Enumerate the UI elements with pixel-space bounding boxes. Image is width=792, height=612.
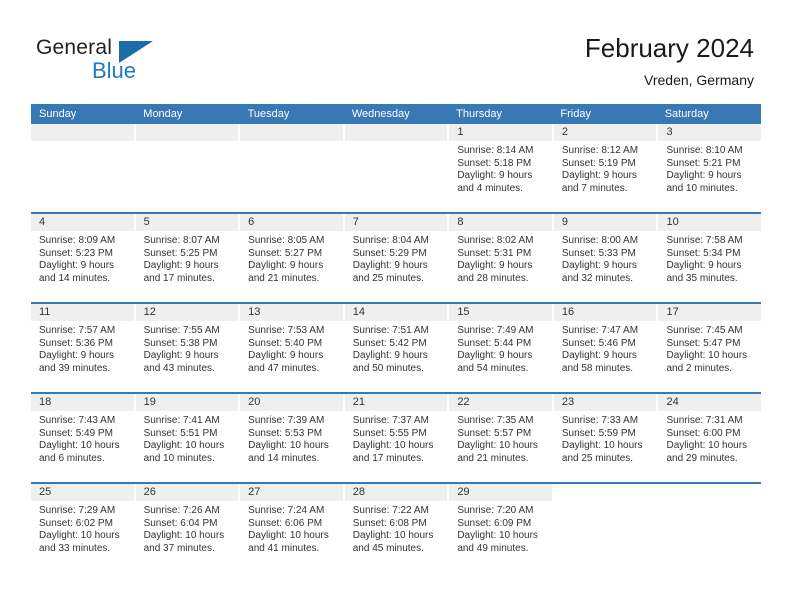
day-sun-info: Sunrise: 7:57 AMSunset: 5:36 PMDaylight:… xyxy=(31,321,134,381)
calendar-day-cell[interactable]: 12Sunrise: 7:55 AMSunset: 5:38 PMDayligh… xyxy=(136,304,241,392)
day-number: 11 xyxy=(31,304,134,321)
calendar-day-cell[interactable]: 24Sunrise: 7:31 AMSunset: 6:00 PMDayligh… xyxy=(658,394,761,482)
calendar-empty-cell xyxy=(554,484,659,572)
daylight-text-cont: and 45 minutes. xyxy=(353,543,444,556)
sunset-text: Sunset: 6:00 PM xyxy=(666,428,757,441)
daylight-text: Daylight: 9 hours xyxy=(144,260,235,273)
calendar-day-cell[interactable]: 15Sunrise: 7:49 AMSunset: 5:44 PMDayligh… xyxy=(449,304,554,392)
calendar-day-cell[interactable]: 13Sunrise: 7:53 AMSunset: 5:40 PMDayligh… xyxy=(240,304,345,392)
calendar-week-row: 25Sunrise: 7:29 AMSunset: 6:02 PMDayligh… xyxy=(31,482,761,572)
location-subtitle: Vreden, Germany xyxy=(585,70,754,90)
sunrise-text: Sunrise: 7:47 AM xyxy=(562,325,653,338)
calendar-day-cell[interactable]: 14Sunrise: 7:51 AMSunset: 5:42 PMDayligh… xyxy=(345,304,450,392)
calendar-day-cell[interactable]: 9Sunrise: 8:00 AMSunset: 5:33 PMDaylight… xyxy=(554,214,659,302)
day-number: 6 xyxy=(240,214,343,231)
sunset-text: Sunset: 5:57 PM xyxy=(457,428,548,441)
day-number xyxy=(240,124,343,141)
sunset-text: Sunset: 5:53 PM xyxy=(248,428,339,441)
daylight-text: Daylight: 10 hours xyxy=(457,440,548,453)
daylight-text-cont: and 28 minutes. xyxy=(457,273,548,286)
day-sun-info: Sunrise: 7:39 AMSunset: 5:53 PMDaylight:… xyxy=(240,411,343,471)
calendar-day-cell[interactable]: 27Sunrise: 7:24 AMSunset: 6:06 PMDayligh… xyxy=(240,484,345,572)
calendar-day-cell[interactable]: 3Sunrise: 8:10 AMSunset: 5:21 PMDaylight… xyxy=(658,124,761,212)
daylight-text-cont: and 4 minutes. xyxy=(457,183,548,196)
day-sun-info: Sunrise: 7:49 AMSunset: 5:44 PMDaylight:… xyxy=(449,321,552,381)
day-sun-info: Sunrise: 7:41 AMSunset: 5:51 PMDaylight:… xyxy=(136,411,239,471)
sunset-text: Sunset: 5:42 PM xyxy=(353,338,444,351)
sunrise-text: Sunrise: 7:57 AM xyxy=(39,325,130,338)
day-sun-info: Sunrise: 7:58 AMSunset: 5:34 PMDaylight:… xyxy=(658,231,761,291)
sunset-text: Sunset: 5:47 PM xyxy=(666,338,757,351)
daylight-text: Daylight: 10 hours xyxy=(666,350,757,363)
sunset-text: Sunset: 5:27 PM xyxy=(248,248,339,261)
sunrise-text: Sunrise: 7:29 AM xyxy=(39,505,130,518)
daylight-text-cont: and 37 minutes. xyxy=(144,543,235,556)
day-sun-info: Sunrise: 7:26 AMSunset: 6:04 PMDaylight:… xyxy=(136,501,239,561)
day-number: 18 xyxy=(31,394,134,411)
day-sun-info xyxy=(31,141,134,151)
daylight-text-cont: and 25 minutes. xyxy=(562,453,653,466)
day-number: 20 xyxy=(240,394,343,411)
daylight-text: Daylight: 9 hours xyxy=(457,350,548,363)
calendar-day-cell[interactable]: 25Sunrise: 7:29 AMSunset: 6:02 PMDayligh… xyxy=(31,484,136,572)
day-number xyxy=(345,124,448,141)
day-number: 28 xyxy=(345,484,448,501)
calendar-grid: SundayMondayTuesdayWednesdayThursdayFrid… xyxy=(31,104,761,572)
sunset-text: Sunset: 5:49 PM xyxy=(39,428,130,441)
calendar-day-cell[interactable]: 6Sunrise: 8:05 AMSunset: 5:27 PMDaylight… xyxy=(240,214,345,302)
daylight-text-cont: and 14 minutes. xyxy=(39,273,130,286)
daylight-text-cont: and 10 minutes. xyxy=(144,453,235,466)
calendar-day-cell[interactable]: 23Sunrise: 7:33 AMSunset: 5:59 PMDayligh… xyxy=(554,394,659,482)
calendar-day-cell[interactable]: 8Sunrise: 8:02 AMSunset: 5:31 PMDaylight… xyxy=(449,214,554,302)
calendar-day-cell[interactable]: 21Sunrise: 7:37 AMSunset: 5:55 PMDayligh… xyxy=(345,394,450,482)
day-number: 21 xyxy=(345,394,448,411)
day-sun-info: Sunrise: 7:22 AMSunset: 6:08 PMDaylight:… xyxy=(345,501,448,561)
sunrise-text: Sunrise: 8:05 AM xyxy=(248,235,339,248)
calendar-empty-cell xyxy=(345,124,450,212)
sunset-text: Sunset: 5:25 PM xyxy=(144,248,235,261)
daylight-text: Daylight: 10 hours xyxy=(666,440,757,453)
logo-text-general: General xyxy=(36,36,112,60)
sunrise-text: Sunrise: 8:10 AM xyxy=(666,145,757,158)
daylight-text-cont: and 49 minutes. xyxy=(457,543,548,556)
daylight-text: Daylight: 10 hours xyxy=(353,530,444,543)
sunset-text: Sunset: 5:40 PM xyxy=(248,338,339,351)
day-sun-info: Sunrise: 7:35 AMSunset: 5:57 PMDaylight:… xyxy=(449,411,552,471)
sunset-text: Sunset: 5:23 PM xyxy=(39,248,130,261)
weekday-header-friday: Friday xyxy=(552,104,656,124)
daylight-text-cont: and 54 minutes. xyxy=(457,363,548,376)
day-number: 8 xyxy=(449,214,552,231)
sunrise-text: Sunrise: 7:24 AM xyxy=(248,505,339,518)
day-sun-info: Sunrise: 7:33 AMSunset: 5:59 PMDaylight:… xyxy=(554,411,657,471)
daylight-text-cont: and 35 minutes. xyxy=(666,273,757,286)
day-number: 5 xyxy=(136,214,239,231)
day-sun-info: Sunrise: 7:24 AMSunset: 6:06 PMDaylight:… xyxy=(240,501,343,561)
day-number: 19 xyxy=(136,394,239,411)
calendar-day-cell[interactable]: 16Sunrise: 7:47 AMSunset: 5:46 PMDayligh… xyxy=(554,304,659,392)
sunset-text: Sunset: 6:02 PM xyxy=(39,518,130,531)
day-sun-info: Sunrise: 8:12 AMSunset: 5:19 PMDaylight:… xyxy=(554,141,657,201)
sunrise-text: Sunrise: 7:22 AM xyxy=(353,505,444,518)
page-header: General Blue February 2024 Vreden, Germa… xyxy=(0,0,792,100)
weekday-header-thursday: Thursday xyxy=(448,104,552,124)
sunrise-text: Sunrise: 7:45 AM xyxy=(666,325,757,338)
day-sun-info: Sunrise: 8:00 AMSunset: 5:33 PMDaylight:… xyxy=(554,231,657,291)
day-sun-info: Sunrise: 7:47 AMSunset: 5:46 PMDaylight:… xyxy=(554,321,657,381)
daylight-text: Daylight: 10 hours xyxy=(39,440,130,453)
day-number: 1 xyxy=(449,124,552,141)
day-sun-info: Sunrise: 7:37 AMSunset: 5:55 PMDaylight:… xyxy=(345,411,448,471)
day-sun-info: Sunrise: 7:31 AMSunset: 6:00 PMDaylight:… xyxy=(658,411,761,471)
weekday-header-monday: Monday xyxy=(135,104,239,124)
day-sun-info: Sunrise: 8:09 AMSunset: 5:23 PMDaylight:… xyxy=(31,231,134,291)
sunset-text: Sunset: 5:21 PM xyxy=(666,158,757,171)
daylight-text-cont: and 43 minutes. xyxy=(144,363,235,376)
calendar-day-cell[interactable]: 28Sunrise: 7:22 AMSunset: 6:08 PMDayligh… xyxy=(345,484,450,572)
day-sun-info: Sunrise: 8:07 AMSunset: 5:25 PMDaylight:… xyxy=(136,231,239,291)
calendar-day-cell[interactable]: 10Sunrise: 7:58 AMSunset: 5:34 PMDayligh… xyxy=(658,214,761,302)
daylight-text: Daylight: 10 hours xyxy=(248,530,339,543)
calendar-empty-cell xyxy=(31,124,136,212)
day-number: 3 xyxy=(658,124,761,141)
calendar-day-cell[interactable]: 19Sunrise: 7:41 AMSunset: 5:51 PMDayligh… xyxy=(136,394,241,482)
sunset-text: Sunset: 6:06 PM xyxy=(248,518,339,531)
sunrise-text: Sunrise: 8:14 AM xyxy=(457,145,548,158)
sunset-text: Sunset: 5:38 PM xyxy=(144,338,235,351)
daylight-text-cont: and 7 minutes. xyxy=(562,183,653,196)
sunset-text: Sunset: 5:31 PM xyxy=(457,248,548,261)
sunrise-text: Sunrise: 7:53 AM xyxy=(248,325,339,338)
daylight-text: Daylight: 9 hours xyxy=(562,350,653,363)
calendar-day-cell[interactable]: 1Sunrise: 8:14 AMSunset: 5:18 PMDaylight… xyxy=(449,124,554,212)
daylight-text: Daylight: 10 hours xyxy=(39,530,130,543)
sunset-text: Sunset: 6:08 PM xyxy=(353,518,444,531)
title-block: February 2024 Vreden, Germany xyxy=(585,32,754,90)
day-sun-info xyxy=(658,501,761,511)
calendar-week-row: 11Sunrise: 7:57 AMSunset: 5:36 PMDayligh… xyxy=(31,302,761,392)
day-number: 24 xyxy=(658,394,761,411)
day-number: 14 xyxy=(345,304,448,321)
sunset-text: Sunset: 5:33 PM xyxy=(562,248,653,261)
weekday-header-saturday: Saturday xyxy=(657,104,761,124)
day-sun-info: Sunrise: 8:05 AMSunset: 5:27 PMDaylight:… xyxy=(240,231,343,291)
daylight-text: Daylight: 9 hours xyxy=(353,260,444,273)
sunset-text: Sunset: 5:18 PM xyxy=(457,158,548,171)
daylight-text-cont: and 39 minutes. xyxy=(39,363,130,376)
day-number: 2 xyxy=(554,124,657,141)
general-blue-logo[interactable]: General Blue xyxy=(36,36,196,90)
day-sun-info: Sunrise: 8:14 AMSunset: 5:18 PMDaylight:… xyxy=(449,141,552,201)
sunset-text: Sunset: 5:19 PM xyxy=(562,158,653,171)
sunrise-text: Sunrise: 8:12 AM xyxy=(562,145,653,158)
day-number: 12 xyxy=(136,304,239,321)
calendar-day-cell[interactable]: 26Sunrise: 7:26 AMSunset: 6:04 PMDayligh… xyxy=(136,484,241,572)
calendar-week-row: 1Sunrise: 8:14 AMSunset: 5:18 PMDaylight… xyxy=(31,124,761,212)
weekday-header-row: SundayMondayTuesdayWednesdayThursdayFrid… xyxy=(31,104,761,124)
daylight-text-cont: and 17 minutes. xyxy=(353,453,444,466)
sunset-text: Sunset: 5:34 PM xyxy=(666,248,757,261)
day-sun-info: Sunrise: 8:04 AMSunset: 5:29 PMDaylight:… xyxy=(345,231,448,291)
daylight-text-cont: and 41 minutes. xyxy=(248,543,339,556)
calendar-day-cell[interactable]: 5Sunrise: 8:07 AMSunset: 5:25 PMDaylight… xyxy=(136,214,241,302)
daylight-text: Daylight: 9 hours xyxy=(248,350,339,363)
day-sun-info: Sunrise: 7:51 AMSunset: 5:42 PMDaylight:… xyxy=(345,321,448,381)
sunset-text: Sunset: 6:04 PM xyxy=(144,518,235,531)
sunrise-text: Sunrise: 7:49 AM xyxy=(457,325,548,338)
day-number xyxy=(31,124,134,141)
day-number xyxy=(136,124,239,141)
sunrise-text: Sunrise: 8:04 AM xyxy=(353,235,444,248)
day-sun-info: Sunrise: 7:29 AMSunset: 6:02 PMDaylight:… xyxy=(31,501,134,561)
calendar-day-cell[interactable]: 7Sunrise: 8:04 AMSunset: 5:29 PMDaylight… xyxy=(345,214,450,302)
daylight-text-cont: and 2 minutes. xyxy=(666,363,757,376)
daylight-text-cont: and 25 minutes. xyxy=(353,273,444,286)
sunrise-text: Sunrise: 7:26 AM xyxy=(144,505,235,518)
weekday-header-tuesday: Tuesday xyxy=(240,104,344,124)
calendar-empty-cell xyxy=(240,124,345,212)
calendar-weeks: 1Sunrise: 8:14 AMSunset: 5:18 PMDaylight… xyxy=(31,124,761,572)
calendar-page: General Blue February 2024 Vreden, Germa… xyxy=(0,0,792,612)
daylight-text-cont: and 58 minutes. xyxy=(562,363,653,376)
day-sun-info: Sunrise: 8:10 AMSunset: 5:21 PMDaylight:… xyxy=(658,141,761,201)
day-number: 4 xyxy=(31,214,134,231)
day-sun-info xyxy=(136,141,239,151)
sunrise-text: Sunrise: 8:02 AM xyxy=(457,235,548,248)
day-number: 23 xyxy=(554,394,657,411)
calendar-empty-cell xyxy=(136,124,241,212)
daylight-text: Daylight: 9 hours xyxy=(457,170,548,183)
sunrise-text: Sunrise: 7:58 AM xyxy=(666,235,757,248)
sunset-text: Sunset: 5:44 PM xyxy=(457,338,548,351)
daylight-text: Daylight: 9 hours xyxy=(39,350,130,363)
daylight-text: Daylight: 9 hours xyxy=(39,260,130,273)
sunrise-text: Sunrise: 8:09 AM xyxy=(39,235,130,248)
daylight-text: Daylight: 10 hours xyxy=(144,440,235,453)
calendar-empty-cell xyxy=(658,484,761,572)
daylight-text-cont: and 50 minutes. xyxy=(353,363,444,376)
day-sun-info: Sunrise: 7:53 AMSunset: 5:40 PMDaylight:… xyxy=(240,321,343,381)
sunrise-text: Sunrise: 8:00 AM xyxy=(562,235,653,248)
calendar-day-cell[interactable]: 29Sunrise: 7:20 AMSunset: 6:09 PMDayligh… xyxy=(449,484,554,572)
day-number xyxy=(554,484,657,501)
sunset-text: Sunset: 5:29 PM xyxy=(353,248,444,261)
daylight-text-cont: and 47 minutes. xyxy=(248,363,339,376)
sunset-text: Sunset: 5:51 PM xyxy=(144,428,235,441)
sunrise-text: Sunrise: 7:37 AM xyxy=(353,415,444,428)
sunrise-text: Sunrise: 7:33 AM xyxy=(562,415,653,428)
day-number: 25 xyxy=(31,484,134,501)
daylight-text-cont: and 14 minutes. xyxy=(248,453,339,466)
day-number: 9 xyxy=(554,214,657,231)
calendar-week-row: 18Sunrise: 7:43 AMSunset: 5:49 PMDayligh… xyxy=(31,392,761,482)
sunrise-text: Sunrise: 7:35 AM xyxy=(457,415,548,428)
day-number xyxy=(658,484,761,501)
sunrise-text: Sunrise: 7:31 AM xyxy=(666,415,757,428)
daylight-text-cont: and 10 minutes. xyxy=(666,183,757,196)
sunset-text: Sunset: 5:55 PM xyxy=(353,428,444,441)
daylight-text-cont: and 6 minutes. xyxy=(39,453,130,466)
weekday-header-wednesday: Wednesday xyxy=(344,104,448,124)
day-number: 13 xyxy=(240,304,343,321)
calendar-day-cell[interactable]: 20Sunrise: 7:39 AMSunset: 5:53 PMDayligh… xyxy=(240,394,345,482)
sunrise-text: Sunrise: 7:41 AM xyxy=(144,415,235,428)
day-number: 26 xyxy=(136,484,239,501)
daylight-text-cont: and 21 minutes. xyxy=(248,273,339,286)
daylight-text: Daylight: 10 hours xyxy=(248,440,339,453)
logo-text-blue: Blue xyxy=(92,58,136,84)
calendar-day-cell[interactable]: 11Sunrise: 7:57 AMSunset: 5:36 PMDayligh… xyxy=(31,304,136,392)
day-sun-info xyxy=(345,141,448,151)
daylight-text: Daylight: 10 hours xyxy=(144,530,235,543)
sunrise-text: Sunrise: 8:07 AM xyxy=(144,235,235,248)
daylight-text-cont: and 32 minutes. xyxy=(562,273,653,286)
calendar-day-cell[interactable]: 18Sunrise: 7:43 AMSunset: 5:49 PMDayligh… xyxy=(31,394,136,482)
sunrise-text: Sunrise: 7:39 AM xyxy=(248,415,339,428)
daylight-text: Daylight: 10 hours xyxy=(353,440,444,453)
calendar-day-cell[interactable]: 17Sunrise: 7:45 AMSunset: 5:47 PMDayligh… xyxy=(658,304,761,392)
daylight-text: Daylight: 9 hours xyxy=(353,350,444,363)
daylight-text-cont: and 17 minutes. xyxy=(144,273,235,286)
day-number: 15 xyxy=(449,304,552,321)
calendar-week-row: 4Sunrise: 8:09 AMSunset: 5:23 PMDaylight… xyxy=(31,212,761,302)
sunrise-text: Sunrise: 7:43 AM xyxy=(39,415,130,428)
sunset-text: Sunset: 5:46 PM xyxy=(562,338,653,351)
page-title: February 2024 xyxy=(585,32,754,64)
day-number: 16 xyxy=(554,304,657,321)
day-number: 29 xyxy=(449,484,552,501)
daylight-text: Daylight: 9 hours xyxy=(562,260,653,273)
day-number: 7 xyxy=(345,214,448,231)
calendar-day-cell[interactable]: 2Sunrise: 8:12 AMSunset: 5:19 PMDaylight… xyxy=(554,124,659,212)
day-sun-info: Sunrise: 8:02 AMSunset: 5:31 PMDaylight:… xyxy=(449,231,552,291)
sunrise-text: Sunrise: 7:20 AM xyxy=(457,505,548,518)
day-sun-info: Sunrise: 7:20 AMSunset: 6:09 PMDaylight:… xyxy=(449,501,552,561)
sunset-text: Sunset: 6:09 PM xyxy=(457,518,548,531)
day-sun-info: Sunrise: 7:43 AMSunset: 5:49 PMDaylight:… xyxy=(31,411,134,471)
day-sun-info xyxy=(554,501,657,511)
day-sun-info: Sunrise: 7:45 AMSunset: 5:47 PMDaylight:… xyxy=(658,321,761,381)
day-sun-info xyxy=(240,141,343,151)
daylight-text: Daylight: 9 hours xyxy=(457,260,548,273)
daylight-text-cont: and 29 minutes. xyxy=(666,453,757,466)
day-number: 22 xyxy=(449,394,552,411)
daylight-text-cont: and 33 minutes. xyxy=(39,543,130,556)
calendar-day-cell[interactable]: 4Sunrise: 8:09 AMSunset: 5:23 PMDaylight… xyxy=(31,214,136,302)
daylight-text: Daylight: 10 hours xyxy=(562,440,653,453)
daylight-text: Daylight: 10 hours xyxy=(457,530,548,543)
sunrise-text: Sunrise: 7:51 AM xyxy=(353,325,444,338)
day-sun-info: Sunrise: 7:55 AMSunset: 5:38 PMDaylight:… xyxy=(136,321,239,381)
daylight-text: Daylight: 9 hours xyxy=(248,260,339,273)
daylight-text-cont: and 21 minutes. xyxy=(457,453,548,466)
sunrise-text: Sunrise: 7:55 AM xyxy=(144,325,235,338)
day-number: 27 xyxy=(240,484,343,501)
sunset-text: Sunset: 5:59 PM xyxy=(562,428,653,441)
sunset-text: Sunset: 5:36 PM xyxy=(39,338,130,351)
daylight-text: Daylight: 9 hours xyxy=(562,170,653,183)
daylight-text: Daylight: 9 hours xyxy=(666,260,757,273)
daylight-text: Daylight: 9 hours xyxy=(666,170,757,183)
daylight-text: Daylight: 9 hours xyxy=(144,350,235,363)
calendar-day-cell[interactable]: 22Sunrise: 7:35 AMSunset: 5:57 PMDayligh… xyxy=(449,394,554,482)
day-number: 10 xyxy=(658,214,761,231)
day-number: 17 xyxy=(658,304,761,321)
weekday-header-sunday: Sunday xyxy=(31,104,135,124)
